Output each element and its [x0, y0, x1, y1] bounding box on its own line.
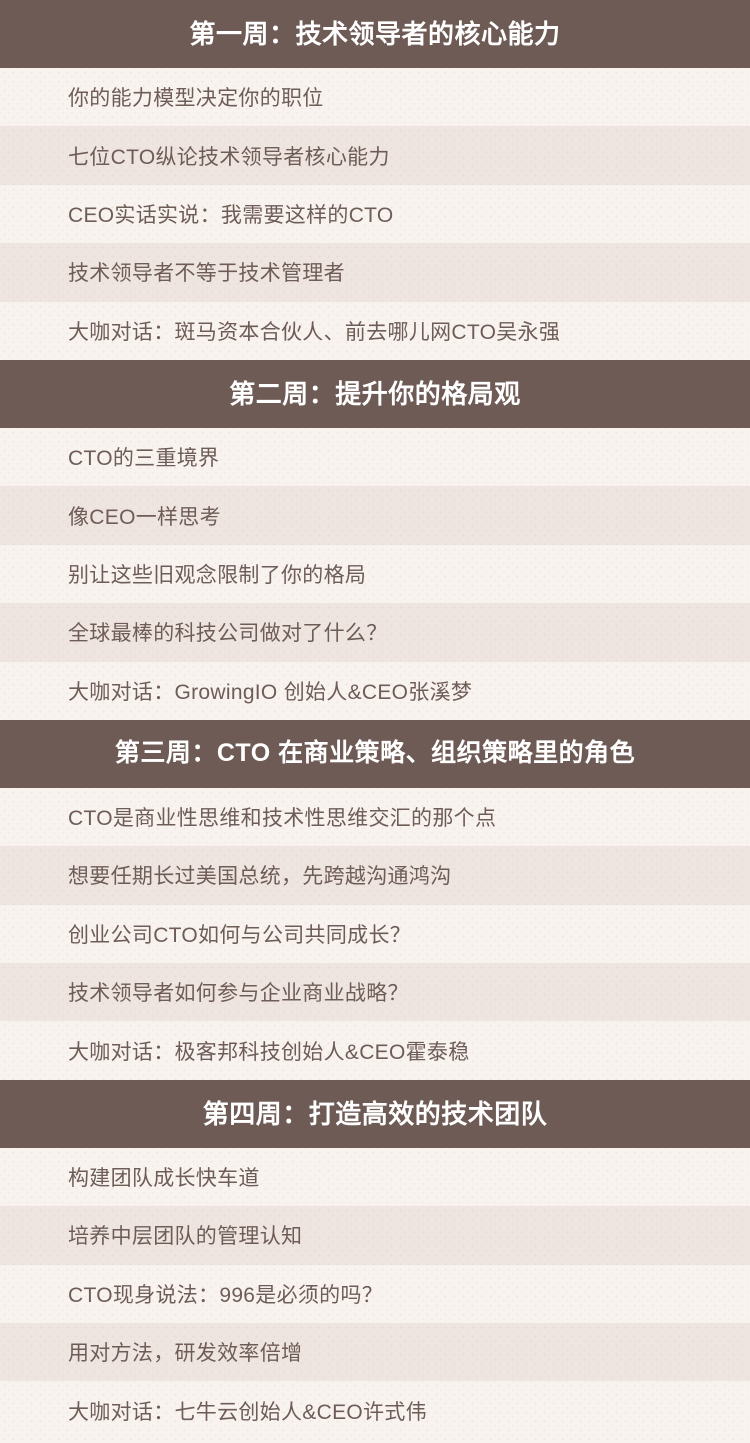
lesson-list-1: 你的能力模型决定你的职位 七位CTO纵论技术领导者核心能力 CEO实话实说：我需…	[0, 68, 750, 360]
lesson-title: 像CEO一样思考	[68, 501, 221, 531]
lesson-title: 大咖对话：极客邦科技创始人&CEO霍泰稳	[68, 1036, 470, 1066]
lesson-row[interactable]: 七位CTO纵论技术领导者核心能力	[0, 126, 750, 184]
lesson-row[interactable]: 构建团队成长快车道	[0, 1148, 750, 1206]
lesson-list-3: CTO是商业性思维和技术性思维交汇的那个点 想要任期长过美国总统，先跨越沟通鸿沟…	[0, 788, 750, 1080]
lesson-row[interactable]: CTO的三重境界	[0, 428, 750, 486]
lesson-row[interactable]: 大咖对话：GrowingIO 创始人&CEO张溪梦	[0, 662, 750, 720]
lesson-title: CEO实话实说：我需要这样的CTO	[68, 199, 394, 229]
lesson-title: 创业公司CTO如何与公司共同成长？	[68, 919, 411, 949]
lesson-row[interactable]: CTO现身说法：996是必须的吗？	[0, 1265, 750, 1323]
lesson-title: CTO是商业性思维和技术性思维交汇的那个点	[68, 802, 496, 832]
lesson-title: 用对方法，研发效率倍增	[68, 1337, 302, 1367]
lesson-list-2: CTO的三重境界 像CEO一样思考 别让这些旧观念限制了你的格局 全球最棒的科技…	[0, 428, 750, 720]
lesson-title: 构建团队成长快车道	[68, 1162, 260, 1192]
course-syllabus: 第一周：技术领导者的核心能力 你的能力模型决定你的职位 七位CTO纵论技术领导者…	[0, 0, 750, 1440]
lesson-row[interactable]: 全球最棒的科技公司做对了什么？	[0, 603, 750, 661]
lesson-row[interactable]: 技术领导者如何参与企业商业战略？	[0, 963, 750, 1021]
lesson-title: 大咖对话：GrowingIO 创始人&CEO张溪梦	[68, 676, 472, 706]
lesson-row[interactable]: 技术领导者不等于技术管理者	[0, 243, 750, 301]
lesson-title: 别让这些旧观念限制了你的格局	[68, 559, 366, 589]
week-title-4: 第四周：打造高效的技术团队	[203, 1101, 548, 1127]
lesson-row[interactable]: 你的能力模型决定你的职位	[0, 68, 750, 126]
lesson-title: 技术领导者不等于技术管理者	[68, 257, 345, 287]
lesson-row[interactable]: 大咖对话：极客邦科技创始人&CEO霍泰稳	[0, 1021, 750, 1079]
lesson-title: CTO的三重境界	[68, 442, 219, 472]
lesson-list-4: 构建团队成长快车道 培养中层团队的管理认知 CTO现身说法：996是必须的吗？ …	[0, 1148, 750, 1440]
lesson-row[interactable]: CTO是商业性思维和技术性思维交汇的那个点	[0, 788, 750, 846]
lesson-row[interactable]: 创业公司CTO如何与公司共同成长？	[0, 905, 750, 963]
lesson-title: 全球最棒的科技公司做对了什么？	[68, 617, 388, 647]
lesson-title: 七位CTO纵论技术领导者核心能力	[68, 141, 390, 171]
week-title-3: 第三周：CTO 在商业策略、组织策略里的角色	[115, 741, 635, 766]
lesson-row[interactable]: 别让这些旧观念限制了你的格局	[0, 545, 750, 603]
lesson-row[interactable]: 大咖对话：七牛云创始人&CEO许式伟	[0, 1381, 750, 1439]
lesson-row[interactable]: 想要任期长过美国总统，先跨越沟通鸿沟	[0, 846, 750, 904]
week-header-3: 第三周：CTO 在商业策略、组织策略里的角色	[0, 720, 750, 788]
lesson-row[interactable]: CEO实话实说：我需要这样的CTO	[0, 185, 750, 243]
lesson-title: 大咖对话：七牛云创始人&CEO许式伟	[68, 1396, 427, 1426]
week-title-2: 第二周：提升你的格局观	[229, 381, 521, 407]
lesson-row[interactable]: 用对方法，研发效率倍增	[0, 1323, 750, 1381]
lesson-title: 培养中层团队的管理认知	[68, 1220, 302, 1250]
lesson-title: 大咖对话：斑马资本合伙人、前去哪儿网CTO吴永强	[68, 316, 560, 346]
week-header-1: 第一周：技术领导者的核心能力	[0, 0, 750, 68]
week-header-4: 第四周：打造高效的技术团队	[0, 1080, 750, 1148]
week-title-1: 第一周：技术领导者的核心能力	[189, 21, 560, 47]
week-header-2: 第二周：提升你的格局观	[0, 360, 750, 428]
lesson-title: 你的能力模型决定你的职位	[68, 82, 324, 112]
lesson-row[interactable]: 培养中层团队的管理认知	[0, 1206, 750, 1264]
lesson-row[interactable]: 大咖对话：斑马资本合伙人、前去哪儿网CTO吴永强	[0, 302, 750, 360]
lesson-title: CTO现身说法：996是必须的吗？	[68, 1279, 383, 1309]
lesson-title: 想要任期长过美国总统，先跨越沟通鸿沟	[68, 860, 451, 890]
lesson-row[interactable]: 像CEO一样思考	[0, 486, 750, 544]
lesson-title: 技术领导者如何参与企业商业战略？	[68, 977, 409, 1007]
